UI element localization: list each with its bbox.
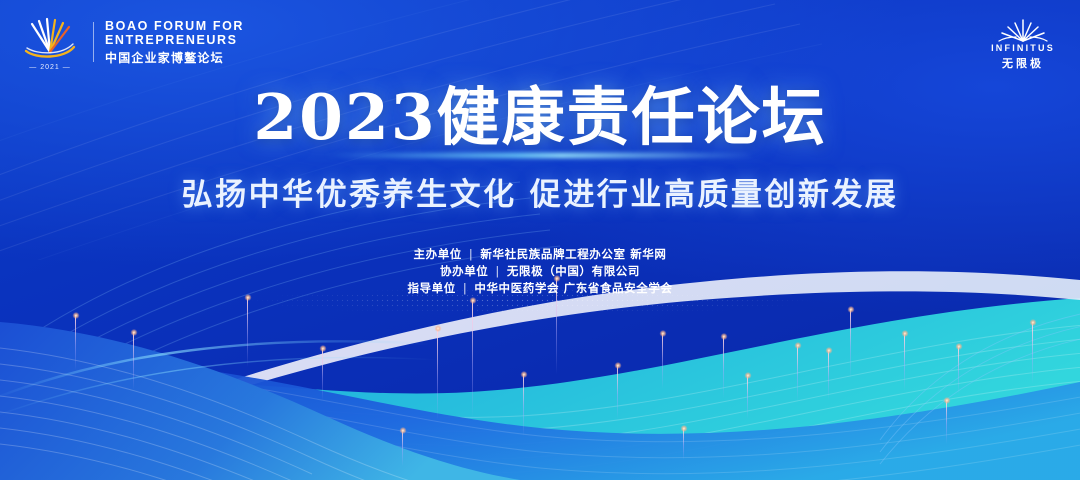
organizer-separator: | xyxy=(488,263,506,280)
boao-logo-en-line2: ENTREPRENEURS xyxy=(105,33,244,48)
organizer-list: 主办单位|新华社民族品牌工程办公室 新华网协办单位|无限极（中国）有限公司指导单… xyxy=(0,246,1080,297)
light-spike xyxy=(828,350,829,400)
organizer-role: 协办单位 xyxy=(440,264,488,278)
light-spike xyxy=(683,428,684,460)
light-spike xyxy=(322,348,323,400)
light-spike xyxy=(1032,322,1033,384)
organizer-separator: | xyxy=(462,246,480,263)
background-light-streaks xyxy=(0,0,1080,480)
infinitus-logo-en: INFINITUS xyxy=(986,43,1060,53)
organizer-row: 指导单位|中华中医药学会 广东省食品安全学会 xyxy=(0,280,1080,297)
light-spike xyxy=(247,297,248,367)
forum-banner: — 2021 — BOAO FORUM FOR ENTREPRENEURS 中国… xyxy=(0,0,1080,480)
light-spike xyxy=(75,315,76,370)
page-title: 2023健康责任论坛 xyxy=(0,86,1080,149)
organizer-row: 主办单位|新华社民族品牌工程办公室 新华网 xyxy=(0,246,1080,263)
boao-fan-logo-icon: — 2021 — xyxy=(18,14,82,70)
headline-block: 2023健康责任论坛 弘扬中华优秀养生文化 促进行业高质量创新发展 xyxy=(0,86,1080,214)
boao-logo-en-line1: BOAO FORUM FOR xyxy=(105,19,244,34)
light-spike xyxy=(662,333,663,389)
organizer-names: 中华中医药学会 广东省食品安全学会 xyxy=(474,281,672,295)
boao-logo-cn: 中国企业家博鳌论坛 xyxy=(105,51,244,65)
light-spike xyxy=(523,374,524,436)
light-spike xyxy=(797,345,798,401)
light-spike xyxy=(437,328,438,420)
light-spike xyxy=(946,400,947,444)
infinitus-logo: INFINITUS 无限极 xyxy=(986,16,1060,71)
light-spikes xyxy=(0,0,1080,480)
light-spike xyxy=(472,300,473,418)
light-spike xyxy=(133,332,134,390)
infinitus-starburst-icon xyxy=(994,16,1052,42)
boao-logo-year: — 2021 — xyxy=(18,64,82,71)
logo-divider xyxy=(93,22,94,62)
light-spike xyxy=(904,333,905,391)
light-spike xyxy=(723,336,724,398)
infinitus-logo-cn: 无限极 xyxy=(986,55,1060,71)
organizer-separator: | xyxy=(456,280,474,297)
organizer-row: 协办单位|无限极（中国）有限公司 xyxy=(0,263,1080,280)
light-spike xyxy=(617,365,618,419)
organizer-role: 指导单位 xyxy=(407,281,455,295)
page-subtitle: 弘扬中华优秀养生文化 促进行业高质量创新发展 xyxy=(0,169,1080,214)
light-spike xyxy=(402,430,403,466)
light-spike xyxy=(747,375,748,419)
organizer-names: 无限极（中国）有限公司 xyxy=(507,264,640,278)
wave-artwork xyxy=(0,0,1080,480)
boao-forum-logo: — 2021 — BOAO FORUM FOR ENTREPRENEURS 中国… xyxy=(18,14,244,70)
light-spike xyxy=(850,309,851,379)
light-spike xyxy=(958,346,959,394)
title-glow-underline xyxy=(325,153,755,158)
organizer-role: 主办单位 xyxy=(414,247,462,261)
organizer-names: 新华社民族品牌工程办公室 新华网 xyxy=(480,247,666,261)
